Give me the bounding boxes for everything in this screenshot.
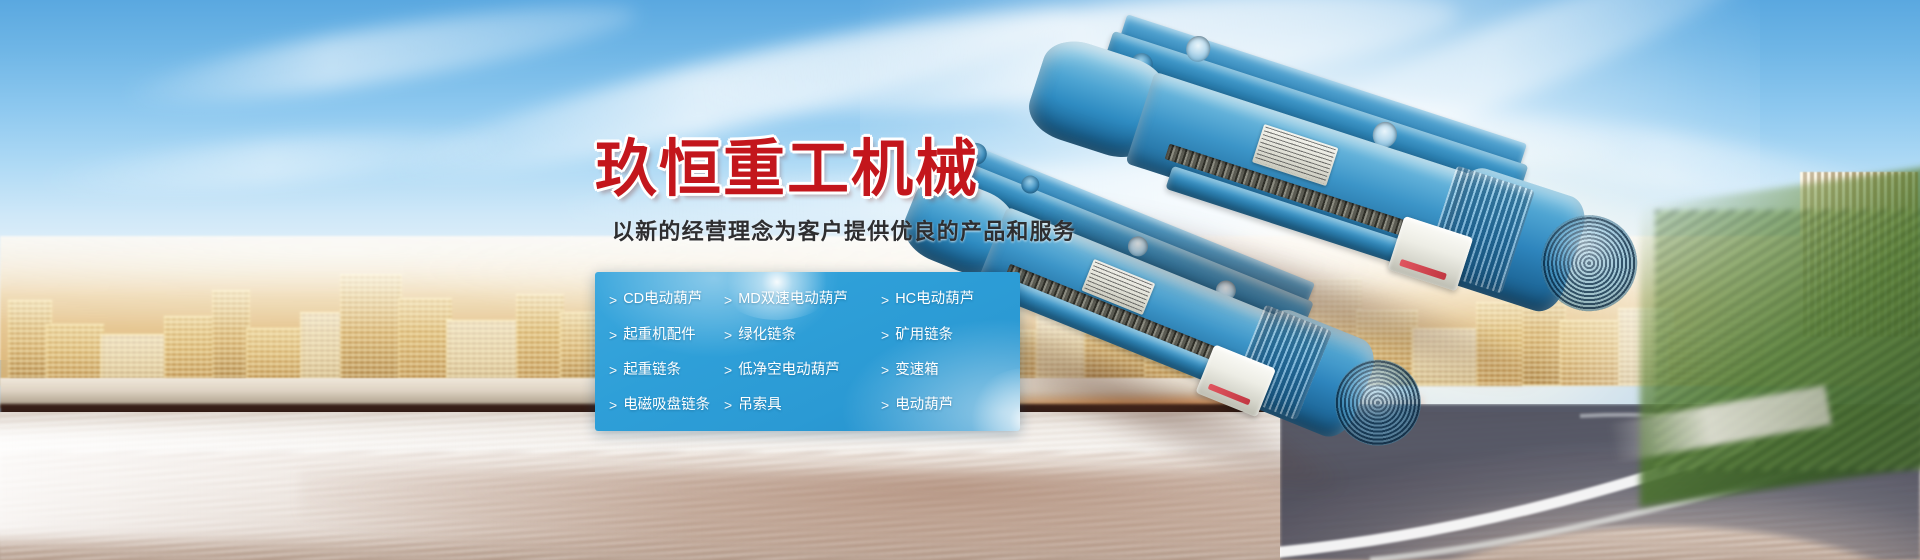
product-link-label: 电磁吸盘链条 [623,398,710,413]
product-links-panel: > CD电动葫芦 > MD双速电动葫芦 > HC电动葫芦 > 起重机配件 > 绿… [595,272,1020,431]
product-link-lifting-chain[interactable]: > 起重链条 [609,353,724,388]
chevron-right-icon: > [609,363,617,377]
page-subtitle: 以新的经营理念为客户提供优良的产品和服务 [612,214,1076,246]
product-link-label: CD电动葫芦 [623,292,702,307]
chevron-right-icon: > [609,328,617,342]
product-link-label: MD双速电动葫芦 [738,292,848,307]
product-link-low-headroom-hoist[interactable]: > 低净空电动葫芦 [724,353,861,388]
chevron-right-icon: > [881,363,889,377]
chevron-right-icon: > [724,363,732,377]
product-link-greening-chain[interactable]: > 绿化链条 [724,317,861,352]
product-link-electric-hoist[interactable]: > 电动葫芦 [861,388,1020,423]
product-link-crane-parts[interactable]: > 起重机配件 [609,317,724,352]
chevron-right-icon: > [881,398,889,412]
product-link-label: 起重链条 [623,363,681,378]
product-link-mining-chain[interactable]: > 矿用链条 [861,317,1020,352]
product-link-label: 低净空电动葫芦 [738,363,840,378]
chevron-right-icon: > [609,398,617,412]
chevron-right-icon: > [724,398,732,412]
product-link-label: 电动葫芦 [895,398,953,413]
chevron-right-icon: > [724,328,732,342]
product-link-gearbox[interactable]: > 变速箱 [861,353,1020,388]
page-title: 玖恒重工机械 [595,138,979,200]
chevron-right-icon: > [881,293,889,307]
product-link-label: 变速箱 [895,363,939,378]
product-link-label: 吊索具 [738,398,782,413]
product-link-label: 绿化链条 [738,328,796,343]
chevron-right-icon: > [609,293,617,307]
chevron-right-icon: > [724,293,732,307]
product-link-label: HC电动葫芦 [895,292,974,307]
product-link-label: 矿用链条 [895,328,953,343]
product-link-magnetic-chuck-chain[interactable]: > 电磁吸盘链条 [609,388,724,423]
product-link-slings[interactable]: > 吊索具 [724,388,861,423]
product-link-cd-hoist[interactable]: > CD电动葫芦 [609,282,724,317]
product-links-grid: > CD电动葫芦 > MD双速电动葫芦 > HC电动葫芦 > 起重机配件 > 绿… [595,272,1020,431]
product-link-md-dual-speed-hoist[interactable]: > MD双速电动葫芦 [724,282,861,317]
hero-banner: 玖恒重工机械 以新的经营理念为客户提供优良的产品和服务 > CD电动葫芦 > M… [0,0,1920,560]
product-link-label: 起重机配件 [623,328,696,343]
chevron-right-icon: > [881,328,889,342]
product-link-hc-hoist[interactable]: > HC电动葫芦 [861,282,1020,317]
